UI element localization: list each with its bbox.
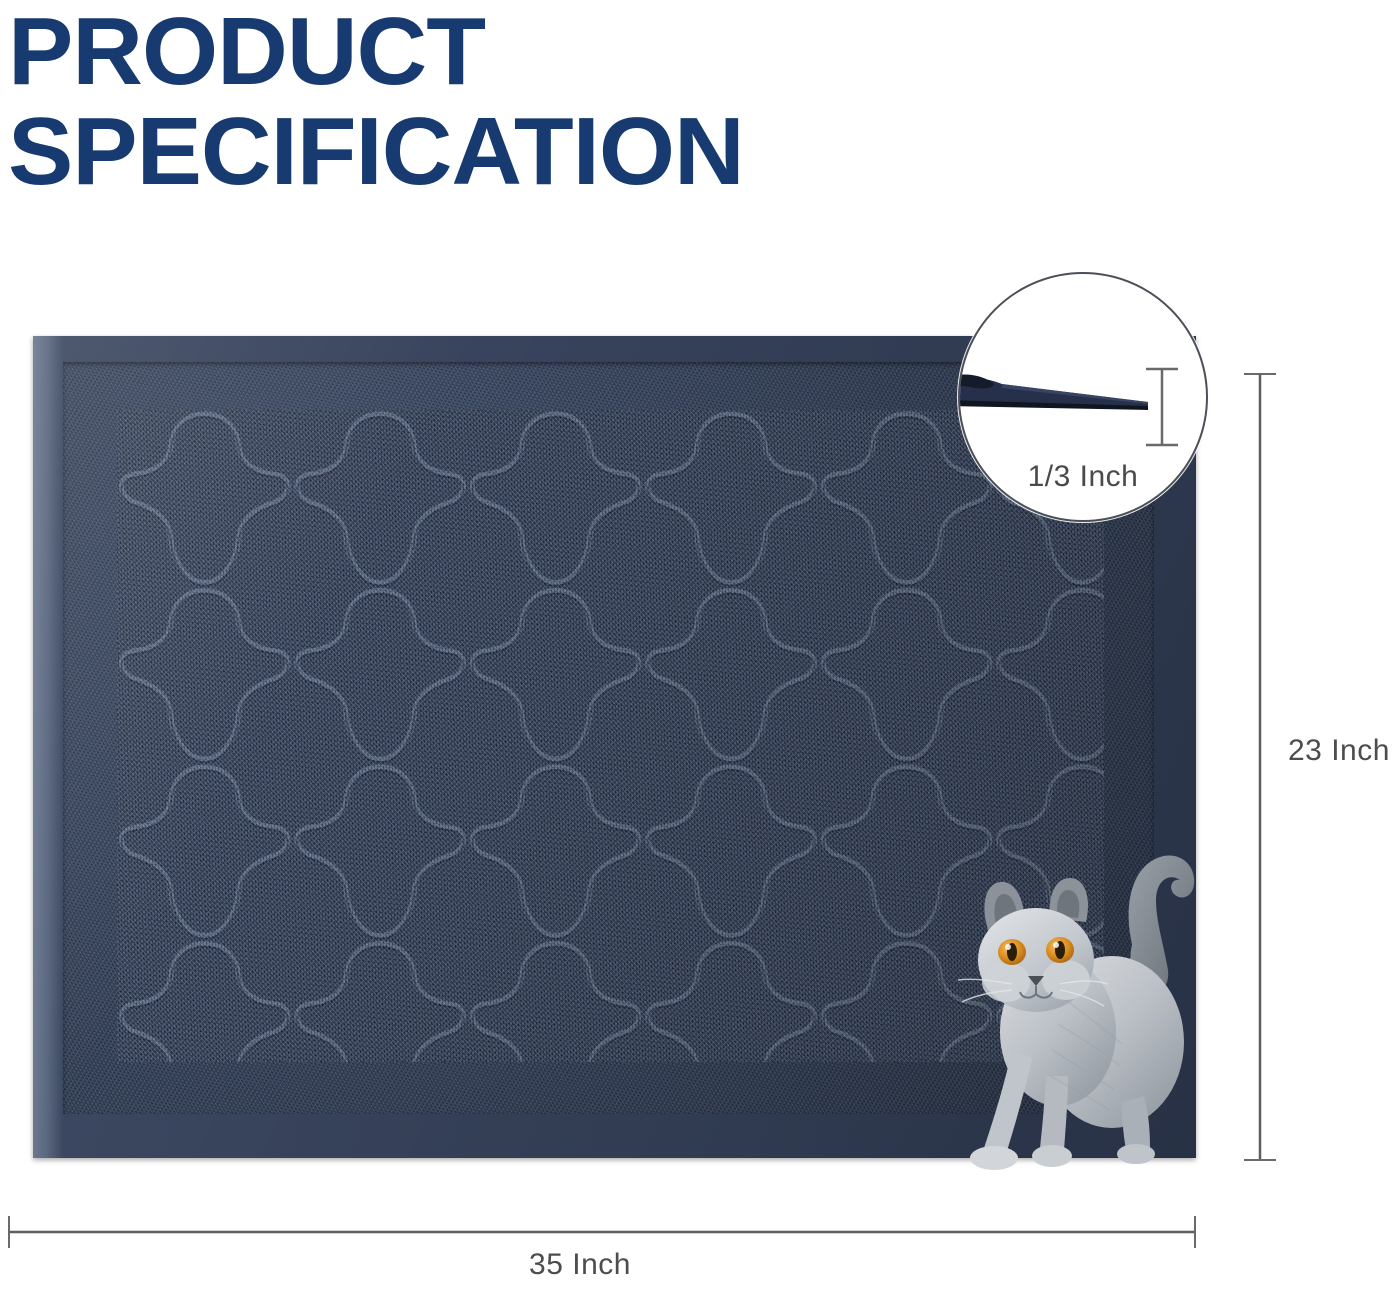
height-dimension-label: 23 Inch <box>1288 734 1390 768</box>
width-dimension-line <box>6 1212 1198 1252</box>
cat-cheek-right <box>1042 960 1090 1000</box>
cat-eye-highlight-right <box>1053 942 1059 948</box>
mat-edge-cross-section-icon <box>958 370 1156 416</box>
cat-paw-front-right <box>1032 1145 1072 1167</box>
cat-hind-leg <box>1122 1096 1150 1150</box>
cat-paw-hind <box>1117 1144 1155 1164</box>
thickness-dimension-ibeam-icon <box>1142 366 1182 448</box>
cat-paw-front-left <box>970 1146 1018 1170</box>
width-dimension-label: 35 Inch <box>0 1248 1160 1282</box>
thickness-callout-circle: 1/3 Inch <box>958 272 1208 522</box>
title-line-1: PRODUCT <box>8 2 1028 102</box>
title-line-2: SPECIFICATION <box>8 102 1028 202</box>
cat-image <box>954 818 1216 1206</box>
height-dimension-line <box>1238 372 1282 1162</box>
thickness-label: 1/3 Inch <box>960 460 1206 494</box>
page-title: PRODUCT SPECIFICATION <box>8 2 1008 202</box>
cat-eye-highlight-left <box>1005 944 1011 950</box>
